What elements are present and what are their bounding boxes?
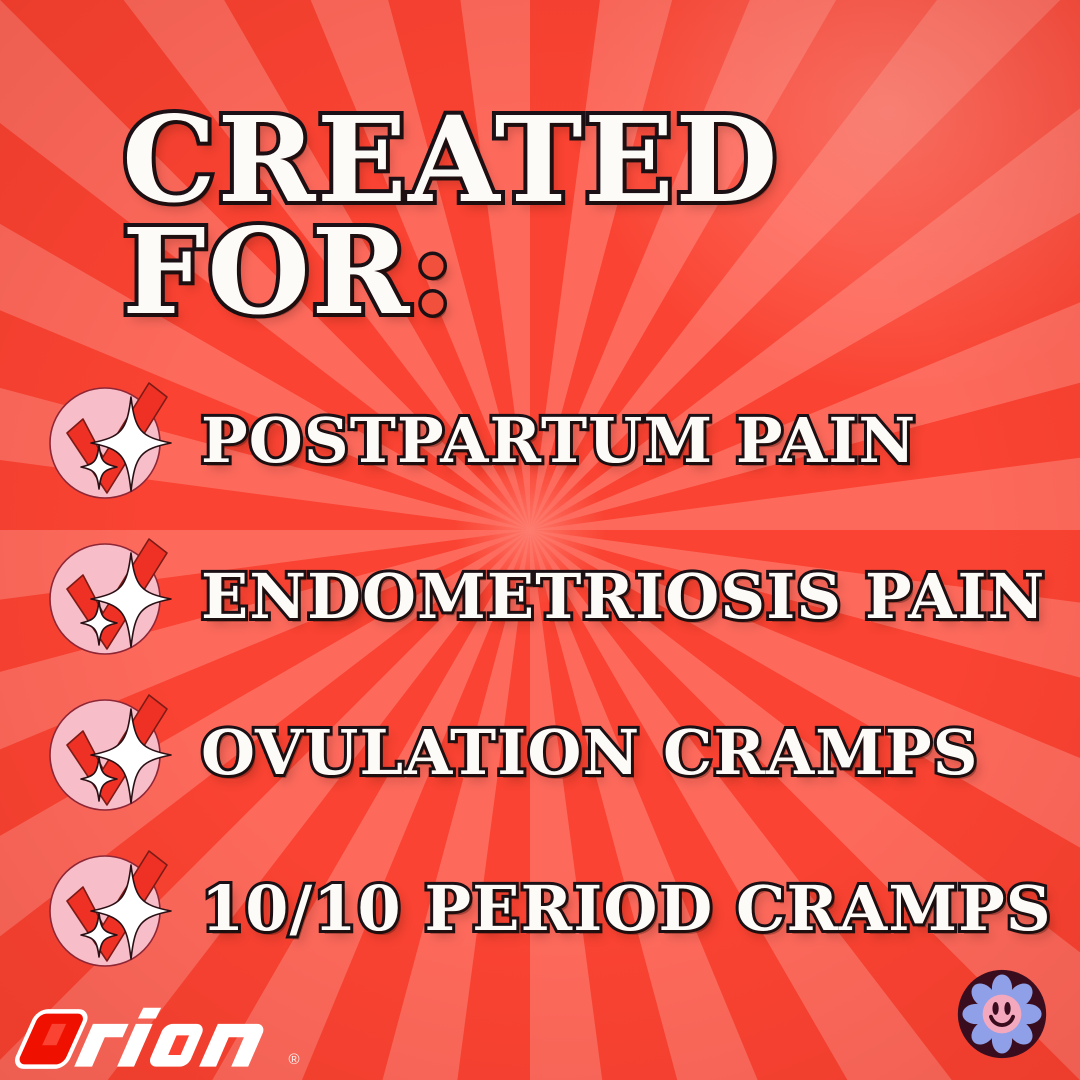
poster-canvas: CREATED FOR: POSTPARTUM PAIN <box>0 0 1080 1080</box>
orion-logo[interactable]: ® <box>10 994 300 1072</box>
check-sparkle-icon <box>45 843 175 973</box>
list-item: ENDOMETRIOSIS PAIN <box>0 538 1080 654</box>
list-item-label: ENDOMETRIOSIS PAIN <box>201 560 1045 633</box>
headline-line-1: CREATED <box>122 104 779 216</box>
check-sparkle-icon <box>45 531 175 661</box>
list-item-label: 10/10 PERIOD CRAMPS <box>201 872 1052 945</box>
list-item-label: POSTPARTUM PAIN <box>201 404 916 477</box>
check-sparkle-icon <box>45 687 175 817</box>
list-item: OVULATION CRAMPS <box>0 694 1080 810</box>
registered-mark: ® <box>288 1051 299 1068</box>
list-item-label: OVULATION CRAMPS <box>201 716 979 789</box>
list-item: 10/10 PERIOD CRAMPS <box>0 850 1080 966</box>
headline-line-2: FOR: <box>122 216 779 328</box>
flower-smiley-icon[interactable] <box>956 968 1048 1060</box>
headline-line-2-text: FOR <box>122 202 411 341</box>
page-title: CREATED FOR: <box>122 104 779 328</box>
check-sparkle-icon <box>45 375 175 505</box>
headline-colon: : <box>411 202 456 341</box>
benefit-list: POSTPARTUM PAIN ENDOMETRIOSIS PAIN <box>0 382 1080 1006</box>
list-item: POSTPARTUM PAIN <box>0 382 1080 498</box>
